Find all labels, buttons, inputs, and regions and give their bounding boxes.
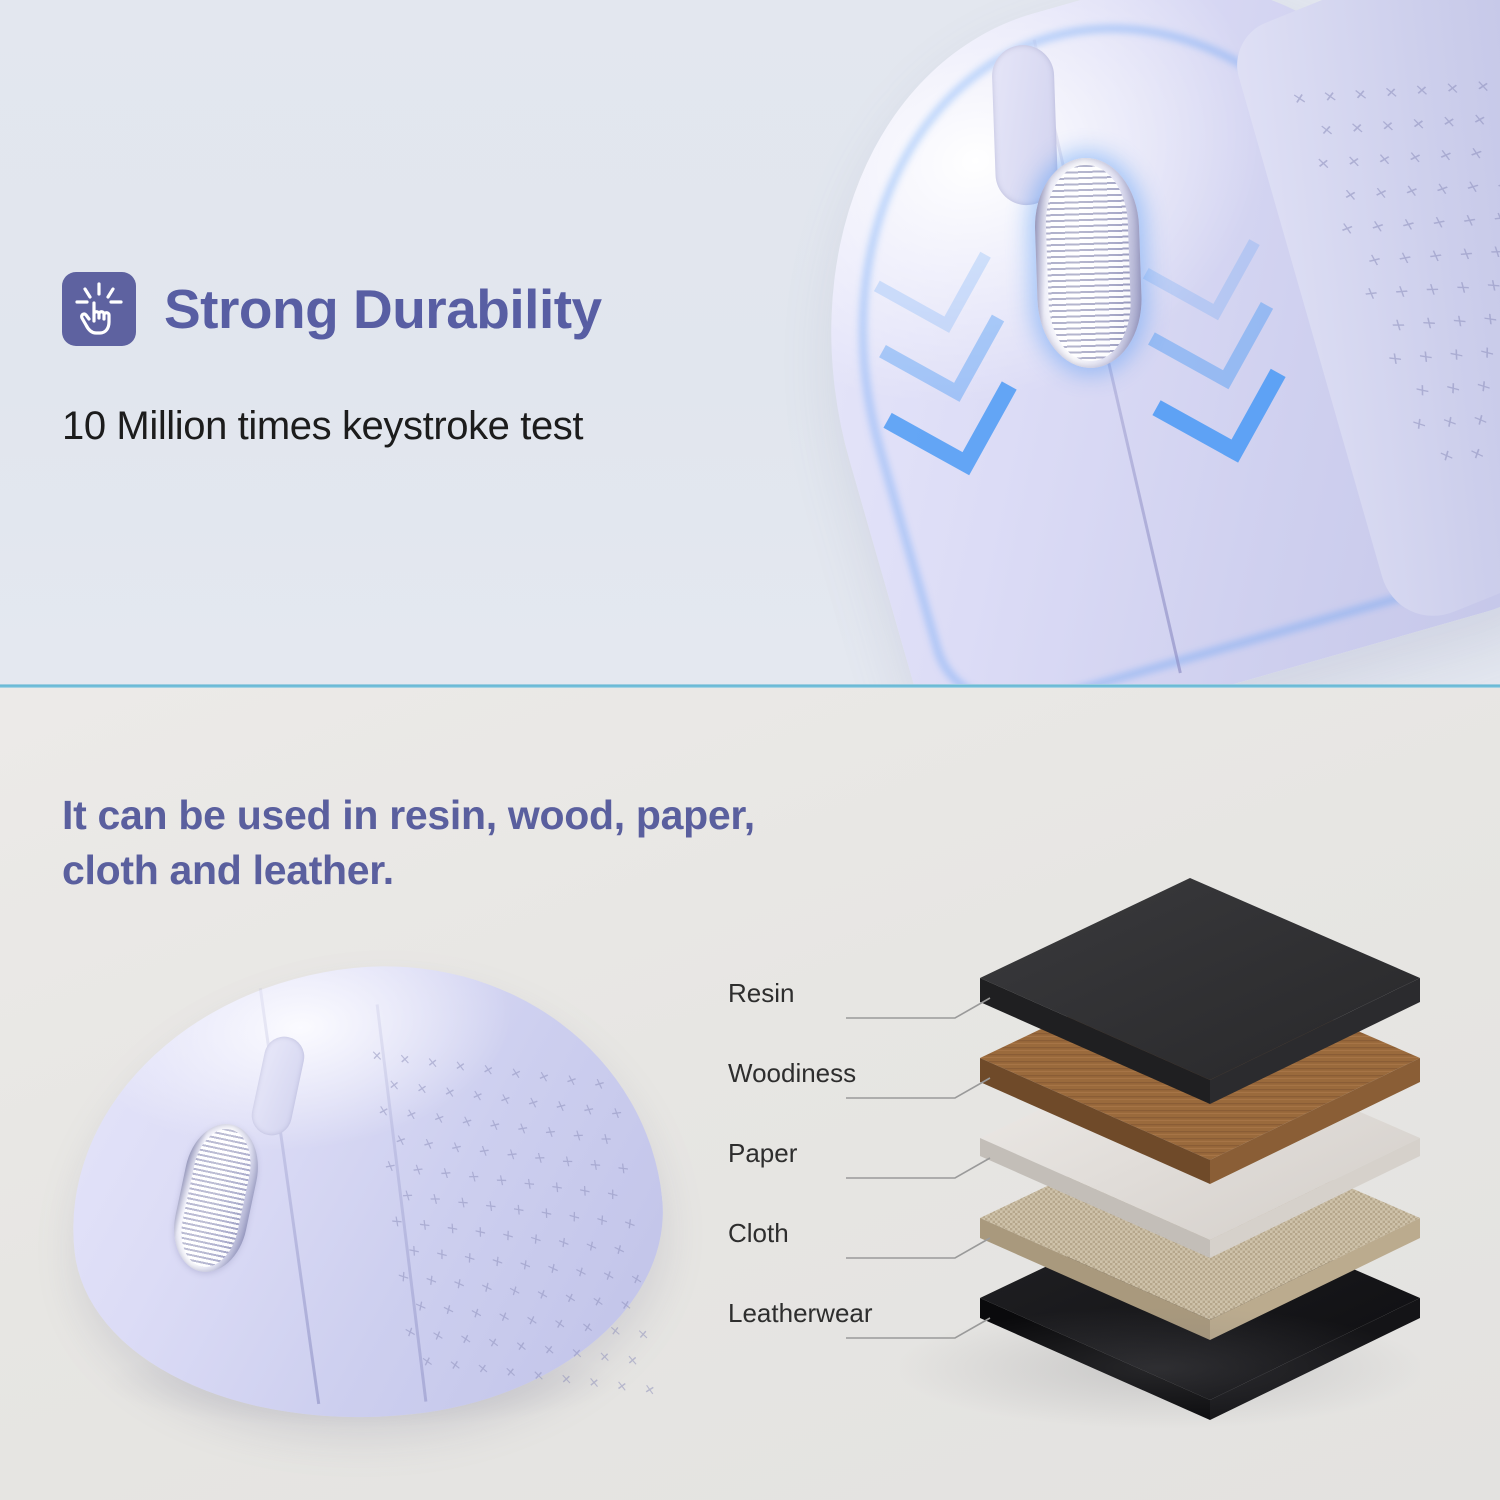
mouse-closeup-image: ✕✕✕✕✕✕✕✕✕✕✕✕✕✕✕✕✕✕✕✕✕✕✕✕✕✕✕✕✕✕✕✕✕✕✕✕✕✕✕✕… [588, 0, 1500, 684]
leader-lines [0, 688, 1000, 1448]
click-hand-icon [62, 272, 136, 346]
durability-subtitle: 10 Million times keystroke test [62, 404, 583, 449]
durability-heading: Strong Durability [62, 272, 602, 346]
durability-panel: ✕✕✕✕✕✕✕✕✕✕✕✕✕✕✕✕✕✕✕✕✕✕✕✕✕✕✕✕✕✕✕✕✕✕✕✕✕✕✕✕… [0, 0, 1500, 684]
panel-divider [0, 684, 1500, 688]
page-title: Strong Durability [164, 277, 602, 341]
scroll-wheel [1033, 156, 1144, 370]
materials-panel: It can be used in resin, wood, paper, cl… [0, 688, 1500, 1500]
